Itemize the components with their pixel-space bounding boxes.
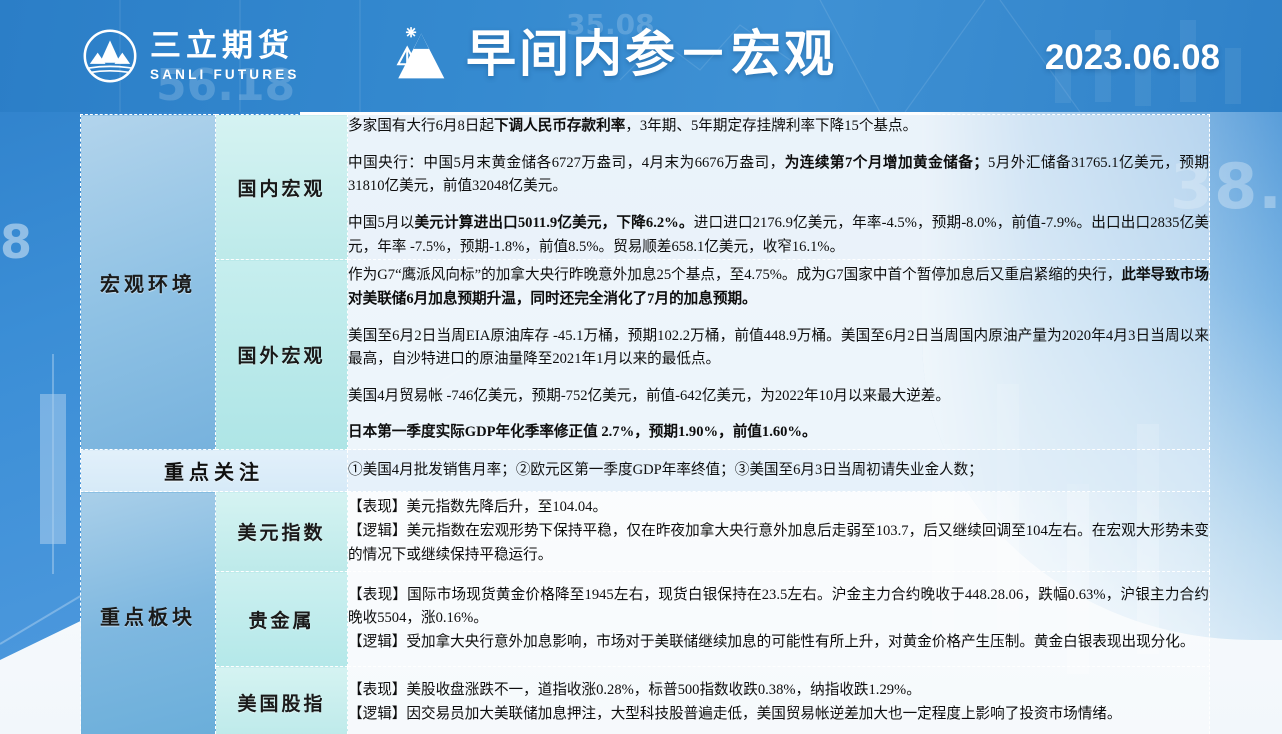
domestic-macro-para-2: 中国央行：中国5月末黄金储各6727万盎司，4月末为6676万盎司，为连续第7个… [348,152,1209,199]
content-dollar-index: 【表现】美元指数先降后升，至104.04。 【逻辑】美元指数在宏观形势下保持平稳… [348,492,1210,572]
table-row-foreign-macro: 国外宏观 作为G7“鹰派风向标”的加拿大央行昨晚意外加息25个基点，至4.75%… [81,260,1210,450]
table-row-dollar-index: 重点板块 美元指数 【表现】美元指数先降后升，至104.04。 【逻辑】美元指数… [81,492,1210,572]
us-stock-index-line-1: 【表现】美股收盘涨跌不一，道指收涨0.28%，标普500指数收跌0.38%，纳指… [348,679,1209,703]
content-precious-metals: 【表现】国际市场现货黄金价格降至1945左右，现货白银保持在23.5左右。沪金主… [348,572,1210,667]
banner-date: 2023.06.08 [1045,38,1220,78]
report-page: 38.99 8 56.18 35.08 [0,0,1282,734]
subcategory-us-stock-index: 美国股指 [216,667,348,734]
us-stock-index-line-2: 【逻辑】因交易员加大美联储加息押注，大型科技股普遍走低，美国贸易帐逆差加大也一定… [348,703,1209,727]
subcategory-foreign-macro: 国外宏观 [216,260,348,450]
mountain-circle-logo-icon [82,28,138,84]
subcategory-precious-metals: 贵金属 [216,572,348,667]
foreign-macro-para-3: 美国4月贸易帐 -746亿美元，预期-752亿美元，前值-642亿美元，为202… [348,385,1209,409]
category-key-sectors: 重点板块 [81,492,216,734]
precious-metals-line-2: 【逻辑】受加拿大央行意外加息影响，市场对于美联储继续加息的可能性有所上升，对黄金… [348,631,1209,655]
table-row-precious-metals: 贵金属 【表现】国际市场现货黄金价格降至1945左右，现货白银保持在23.5左右… [81,572,1210,667]
logo-chinese-name: 三立期货 [150,30,300,63]
subcategory-domestic-macro: 国内宏观 [216,115,348,260]
content-foreign-macro: 作为G7“鹰派风向标”的加拿大央行昨晚意外加息25个基点，至4.75%。成为G7… [348,260,1210,450]
macro-report-table: 宏观环境 国内宏观 多家国有大行6月8日起下调人民币存款利率，3年期、5年期定存… [80,114,1210,734]
table-row-domestic-macro: 宏观环境 国内宏观 多家国有大行6月8日起下调人民币存款利率，3年期、5年期定存… [81,115,1210,260]
domestic-macro-para-3: 中国5月以美元计算进出口5011.9亿美元，下降6.2%。进口进口2176.9亿… [348,212,1209,259]
category-key-focus: 重点关注 [81,450,348,492]
logo-english-name: SANLI FUTURES [150,67,300,82]
domestic-macro-para-1: 多家国有大行6月8日起下调人民币存款利率，3年期、5年期定存挂牌利率下降15个基… [348,115,1209,139]
header-banner: 56.18 35.08 三立期货 SANLI FUTURES [0,0,1282,112]
banner-title: 早间内参－宏观 [466,29,837,79]
dollar-index-line-1: 【表现】美元指数先降后升，至104.04。 [348,496,1209,520]
foreign-macro-para-2: 美国至6月2日当周EIA原油库存 -45.1万桶，预期102.2万桶，前值448… [348,325,1209,372]
content-domestic-macro: 多家国有大行6月8日起下调人民币存款利率，3年期、5年期定存挂牌利率下降15个基… [348,115,1210,260]
table-row-us-stock-index: 美国股指 【表现】美股收盘涨跌不一，道指收涨0.28%，标普500指数收跌0.3… [81,667,1210,734]
mountain-pine-icon [388,22,452,86]
company-logo: 三立期货 SANLI FUTURES [82,28,300,84]
foreign-macro-para-1: 作为G7“鹰派风向标”的加拿大央行昨晚意外加息25个基点，至4.75%。成为G7… [348,264,1209,311]
banner-title-group: 早间内参－宏观 [388,22,837,86]
dollar-index-line-2: 【逻辑】美元指数在宏观形势下保持平稳，仅在昨夜加拿大央行意外加息后走弱至103.… [348,520,1209,567]
subcategory-dollar-index: 美元指数 [216,492,348,572]
content-key-focus: ①美国4月批发销售月率；②欧元区第一季度GDP年率终值；③美国至6月3日当周初请… [348,450,1210,492]
precious-metals-line-1: 【表现】国际市场现货黄金价格降至1945左右，现货白银保持在23.5左右。沪金主… [348,584,1209,631]
table-row-key-focus: 重点关注 ①美国4月批发销售月率；②欧元区第一季度GDP年率终值；③美国至6月3… [81,450,1210,492]
foreign-macro-para-4: 日本第一季度实际GDP年化季率修正值 2.7%，预期1.90%，前值1.60%。 [348,421,1209,445]
category-macro-environment: 宏观环境 [81,115,216,450]
ghost-number-8: 8 [0,215,33,269]
content-us-stock-index: 【表现】美股收盘涨跌不一，道指收涨0.28%，标普500指数收跌0.38%，纳指… [348,667,1210,734]
